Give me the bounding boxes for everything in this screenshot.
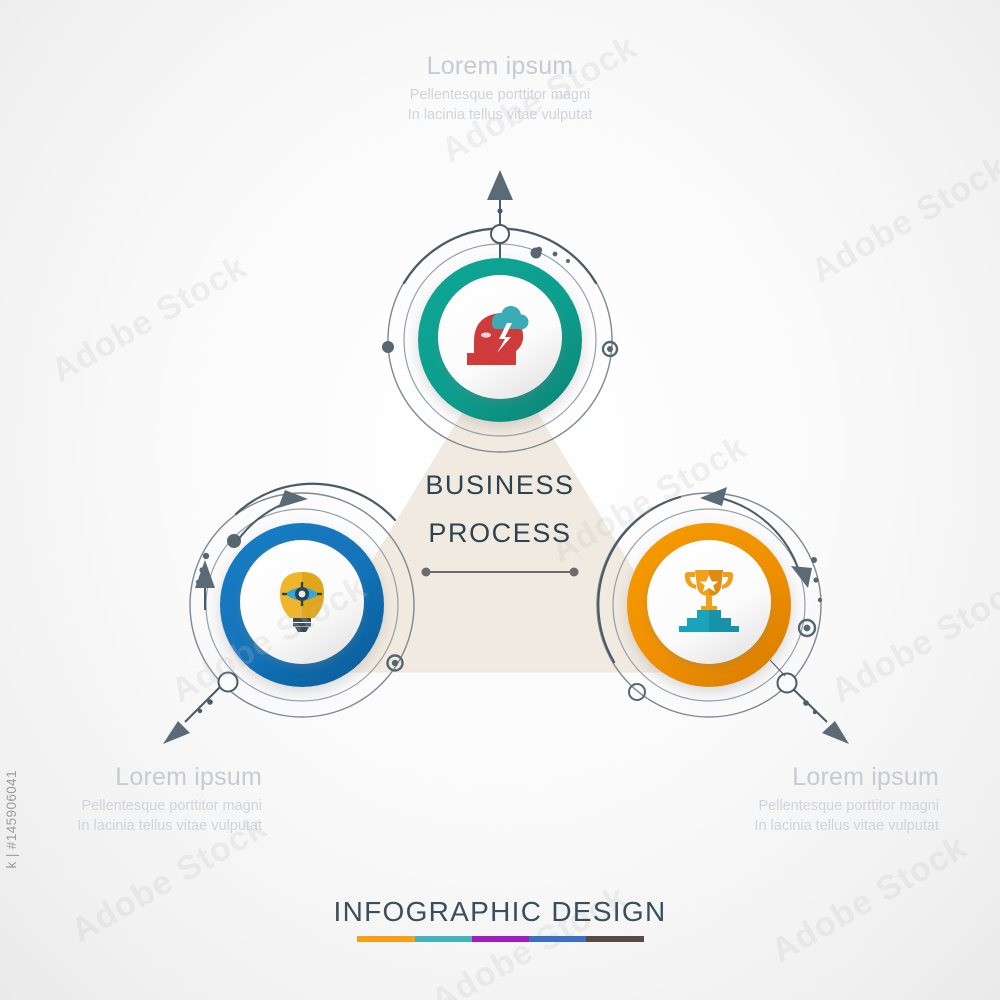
step-label-left: Lorem ipsum Pellentesque porttitor magni… [0, 763, 262, 837]
footer: INFOGRAPHIC DESIGN [0, 896, 1000, 942]
step-label-top-sub2: In lacinia tellus vitae vulputat [0, 105, 1000, 126]
top-arrow-head [487, 170, 513, 200]
top-chain-dot-big [531, 248, 542, 259]
right-arrow-head-left [700, 487, 727, 506]
right-arc-ring-left [629, 684, 645, 700]
footer-title: INFOGRAPHIC DESIGN [0, 896, 1000, 928]
step-label-top-title: Lorem ipsum [0, 52, 1000, 81]
footer-bar-segment-blue [529, 936, 586, 942]
right-node-link [770, 660, 785, 676]
top-chain-dot-3 [566, 259, 570, 263]
right-stem-dot-1 [803, 700, 809, 706]
right-chain-dot-3 [811, 557, 817, 563]
step-label-top-subtitle: Pellentesque porttitor magni In lacinia … [0, 85, 1000, 126]
right-arrow-head-down [791, 566, 812, 588]
right-arrow-head-downright [822, 721, 849, 744]
top-stem-dot [497, 208, 502, 213]
step-label-top-sub1: Pellentesque porttitor magni [0, 85, 1000, 106]
step-label-right-sub1: Pellentesque porttitor magni [662, 796, 939, 817]
left-stem-dot-2 [198, 709, 202, 713]
right-stem-dot-2 [813, 710, 817, 714]
step-label-right-title: Lorem ipsum [662, 763, 939, 792]
step-node-top[interactable] [382, 170, 617, 452]
left-arc-dot-top [227, 534, 241, 548]
right-chain-dot-1 [813, 577, 818, 582]
infographic-canvas: Adobe Stock Adobe Stock Adobe Stock Adob… [0, 0, 1000, 1000]
right-chain-dot-2 [818, 598, 822, 602]
top-arc-dot-left [382, 341, 394, 353]
left-arc-ring-core [392, 660, 398, 666]
step-node-left[interactable] [163, 484, 414, 744]
step-label-left-subtitle: Pellentesque porttitor magni In lacinia … [0, 796, 262, 837]
step-label-left-title: Lorem ipsum [0, 763, 262, 792]
step-node-right[interactable] [597, 487, 849, 744]
top-chain-dot-2 [553, 252, 558, 257]
right-arc-ring-core [804, 625, 811, 632]
step-label-right-sub2: In lacinia tellus vitae vulputat [662, 816, 939, 837]
right-stem-node [778, 674, 797, 693]
step-label-right: Lorem ipsum Pellentesque porttitor magni… [662, 763, 939, 837]
footer-bar-segment-teal [415, 936, 472, 942]
footer-bar-segment-purple [472, 936, 529, 942]
left-stem-dot-1 [207, 699, 213, 705]
top-arc-ring-right-core [607, 346, 613, 352]
left-arrow-head-down [163, 721, 190, 744]
step-label-left-sub1: Pellentesque porttitor magni [0, 796, 262, 817]
left-stem-node [219, 673, 238, 692]
infographic-artwork [0, 0, 1000, 1000]
step-label-right-subtitle: Pellentesque porttitor magni In lacinia … [662, 796, 939, 837]
step-label-left-sub2: In lacinia tellus vitae vulputat [0, 816, 262, 837]
left-chain-dot-1 [203, 553, 209, 559]
footer-bar-segment-brown [586, 936, 644, 942]
stock-watermark-id: k | #145906041 [4, 770, 26, 868]
footer-color-bar [357, 936, 644, 942]
step-label-top: Lorem ipsum Pellentesque porttitor magni… [0, 52, 1000, 126]
top-stem-node [491, 225, 509, 243]
footer-bar-segment-orange [357, 936, 415, 942]
